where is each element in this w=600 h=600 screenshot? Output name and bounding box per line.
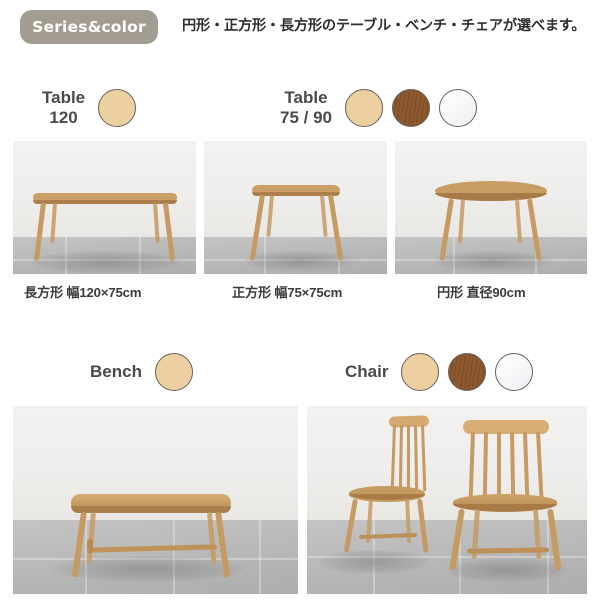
oak-swatch[interactable]	[155, 353, 193, 391]
walnut-swatch[interactable]	[392, 89, 430, 127]
label-table-120: Table 120	[42, 88, 85, 128]
series-color-badge: Series&color	[20, 10, 158, 44]
series-color-badge-label: Series&color	[32, 18, 146, 36]
photo-square-table	[204, 141, 387, 274]
section-header: Series&color 円形・正方形・長方形のテーブル・ベンチ・チェアが選べま…	[0, 0, 600, 62]
oak-swatch[interactable]	[401, 353, 439, 391]
caption-rect-table: 長方形 幅120×75cm	[24, 282, 141, 301]
oak-swatch[interactable]	[345, 89, 383, 127]
caption-square-table: 正方形 幅75×75cm	[232, 282, 342, 301]
label-row-chair: Chair	[345, 353, 533, 391]
swatch-group-bench	[155, 353, 193, 391]
walnut-swatch[interactable]	[448, 353, 486, 391]
label-row-table-120: Table 120	[42, 88, 136, 128]
label-table-75-90: Table 75 / 90	[280, 88, 332, 128]
swatch-group-table-75-90	[345, 89, 477, 127]
oak-swatch[interactable]	[98, 89, 136, 127]
swatch-group-table-120	[98, 89, 136, 127]
label-row-table-75-90: Table 75 / 90	[280, 88, 477, 128]
label-row-bench: Bench	[90, 353, 193, 391]
photo-rect-table	[13, 141, 196, 274]
swatch-group-chair	[401, 353, 533, 391]
product-series-panel: Series&color 円形・正方形・長方形のテーブル・ベンチ・チェアが選べま…	[0, 0, 600, 600]
white-swatch[interactable]	[439, 89, 477, 127]
header-subtitle: 円形・正方形・長方形のテーブル・ベンチ・チェアが選べます。	[182, 15, 594, 35]
photo-bench	[13, 406, 298, 594]
caption-round-table: 円形 直径90cm	[437, 282, 525, 301]
white-swatch[interactable]	[495, 353, 533, 391]
photo-round-table	[395, 141, 587, 274]
label-bench: Bench	[90, 362, 142, 382]
label-chair: Chair	[345, 362, 388, 382]
photo-chair	[307, 406, 587, 594]
